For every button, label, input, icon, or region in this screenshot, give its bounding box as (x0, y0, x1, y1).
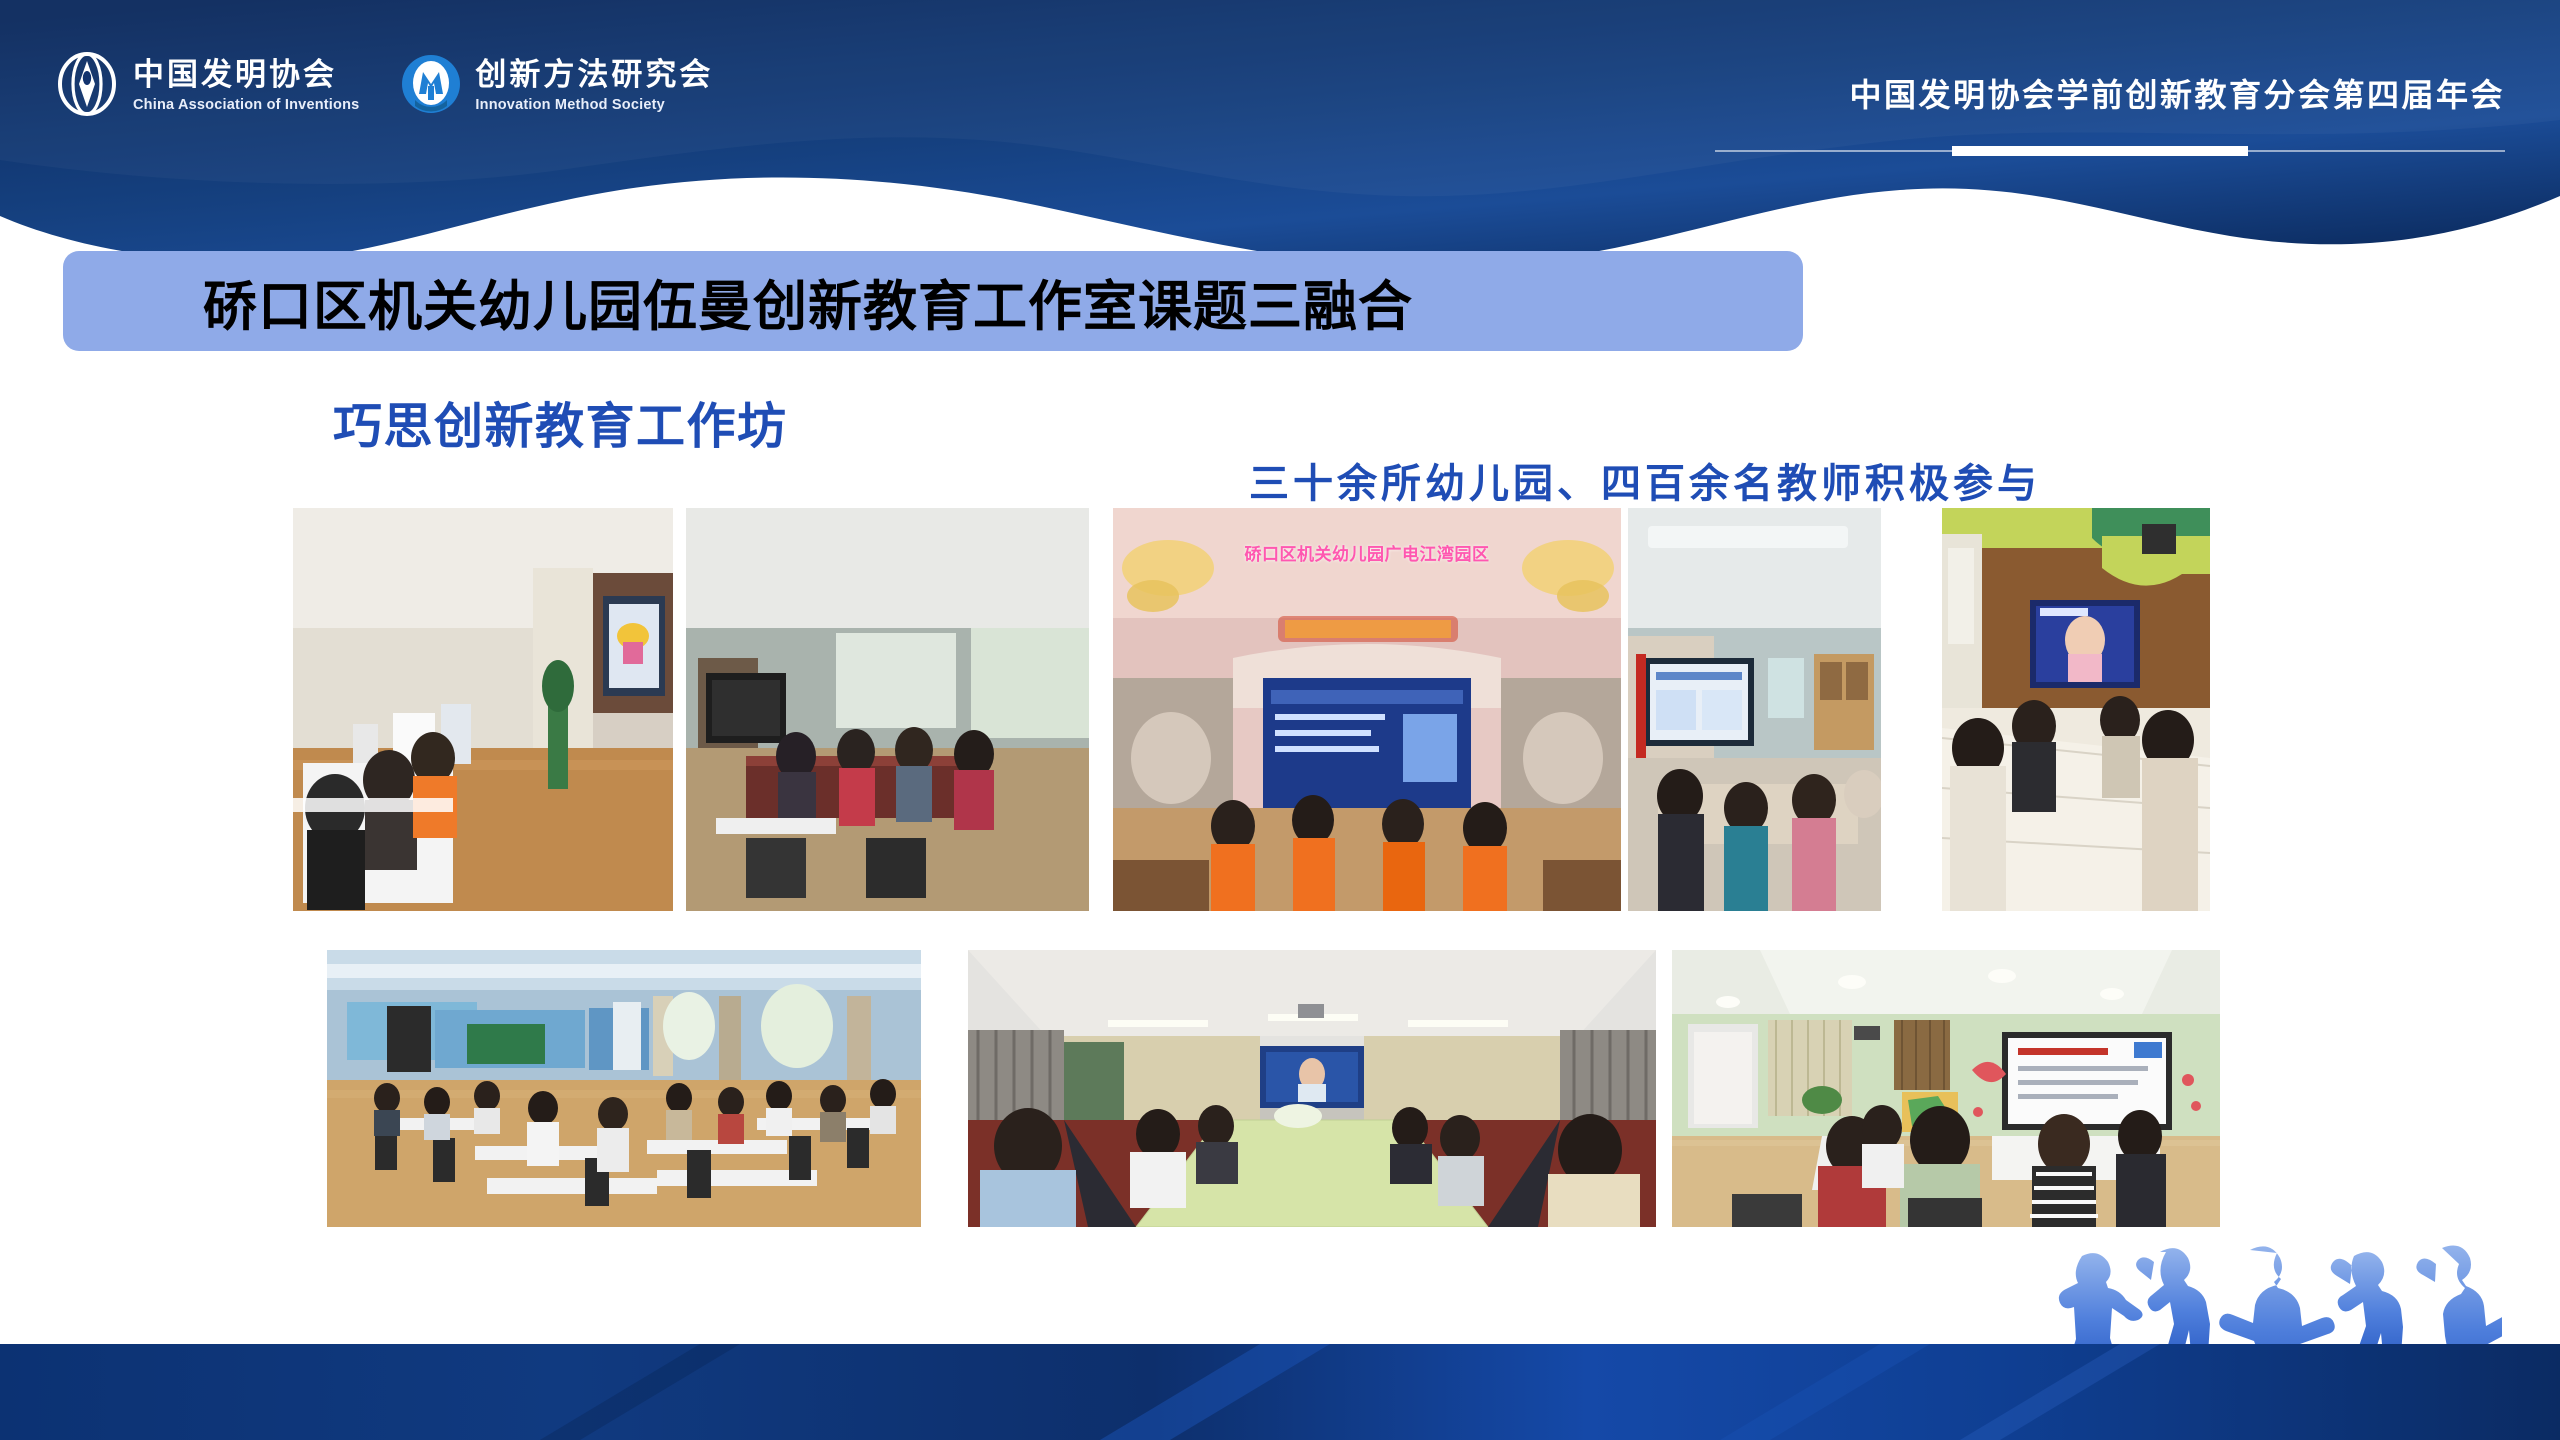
photo-row1-1 (293, 508, 673, 911)
ims-name-en: Innovation Method Society (475, 98, 713, 113)
footer-band (0, 1344, 2560, 1440)
logo-china-association-of-inventions: 中国发明协会 China Association of Inventions (55, 52, 359, 121)
slide-title: 硚口区机关幼儿园伍曼创新教育工作室课题三融合 (203, 262, 1413, 341)
presentation-slide: 中国发明协会 China Association of Inventions 创… (0, 0, 2560, 1440)
slide-footer (0, 1344, 2560, 1440)
ims-logo-text: 创新方法研究会 Innovation Method Society (475, 60, 713, 113)
event-title: 中国发明协会学前创新教育分会第四届年会 (1715, 70, 2505, 116)
header-divider-rule (1715, 146, 2505, 156)
photo-row1-2-image (686, 508, 1089, 911)
ims-badge-icon (401, 54, 461, 119)
slide-header: 中国发明协会 China Association of Inventions 创… (0, 0, 2560, 270)
photo-row1-4 (1628, 508, 1881, 911)
photo-row1-2 (686, 508, 1089, 911)
photo-row1-1-image (293, 508, 673, 911)
photo-row1-5-image (1942, 508, 2210, 911)
slide-title-bar: 硚口区机关幼儿园伍曼创新教育工作室课题三融合 (63, 251, 1803, 351)
photo-row2-3-image (1672, 950, 2220, 1227)
divider-thick-mark (1952, 146, 2248, 156)
section-heading-participation: 三十余所幼儿园、四百余名教师积极参与 (1249, 451, 2041, 509)
event-title-block: 中国发明协会学前创新教育分会第四届年会 (1715, 70, 2505, 156)
photo-row2-1-image (327, 950, 921, 1227)
photo-row1-4-image (1628, 508, 1881, 911)
cai-name-en: China Association of Inventions (133, 98, 359, 113)
section-heading-workshop: 巧思创新教育工作坊 (333, 387, 788, 458)
section-heading-workshop-text: 巧思创新教育工作坊 (333, 398, 788, 455)
section-heading-participation-text: 三十余所幼儿园、四百余名教师积极参与 (1249, 461, 2041, 507)
photo-row1-3-caption: 硚口区机关幼儿园广电江湾园区 (1113, 540, 1621, 565)
photo-row2-2 (968, 950, 1656, 1227)
cai-globe-icon (55, 52, 119, 121)
header-logo-group: 中国发明协会 China Association of Inventions 创… (55, 52, 713, 121)
ims-name-cn: 创新方法研究会 (475, 60, 713, 91)
photo-row2-1 (327, 950, 921, 1227)
photo-row1-3: 硚口区机关幼儿园广电江湾园区 (1113, 508, 1621, 911)
photo-row1-3-image (1113, 508, 1621, 911)
cai-logo-text: 中国发明协会 China Association of Inventions (133, 60, 359, 113)
photo-row2-2-image (968, 950, 1656, 1227)
photo-row2-3 (1672, 950, 2220, 1227)
cai-name-cn: 中国发明协会 (133, 60, 359, 91)
photo-row1-5 (1942, 508, 2210, 911)
logo-innovation-method-society: 创新方法研究会 Innovation Method Society (401, 54, 713, 119)
